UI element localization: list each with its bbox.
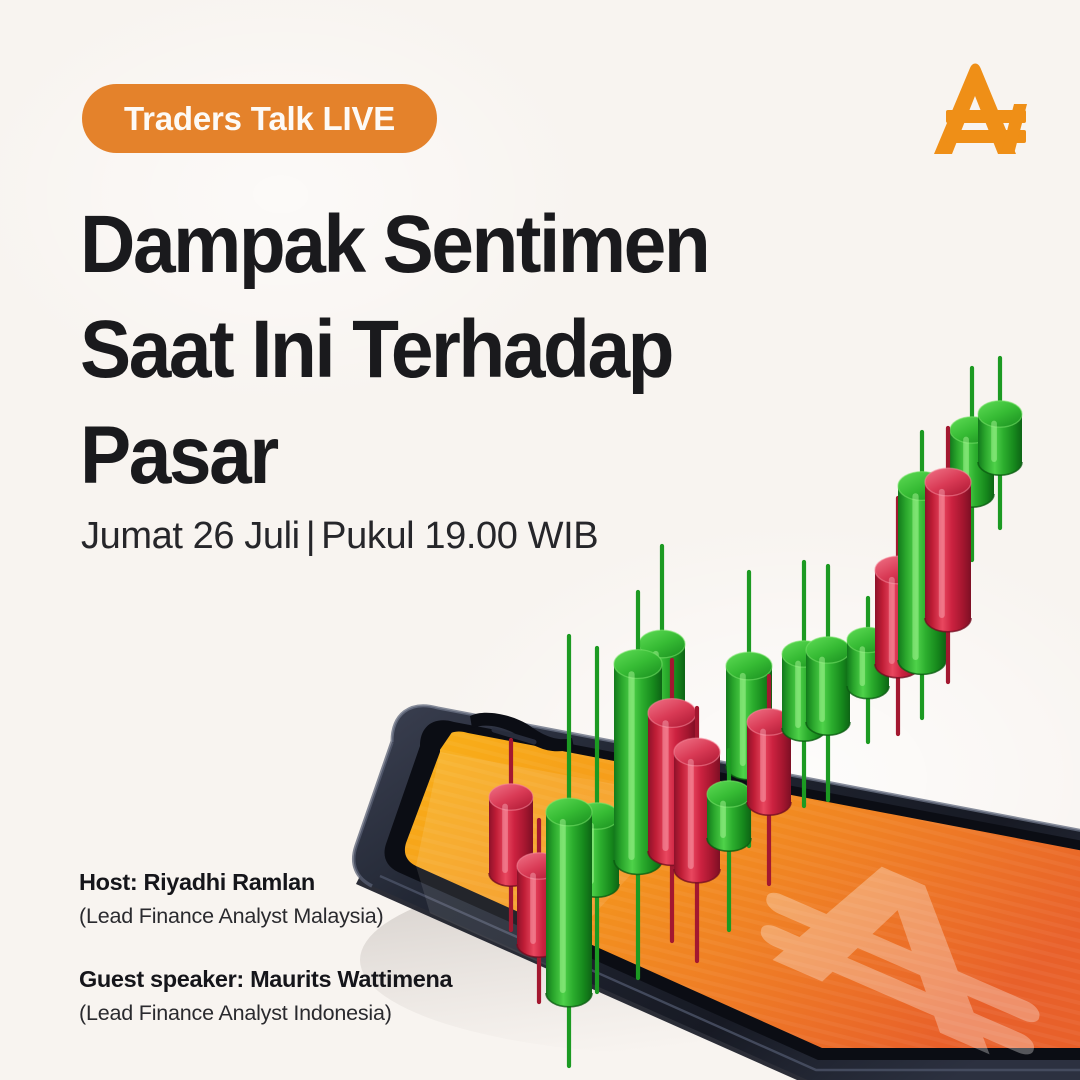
candle-13-bull — [806, 566, 850, 800]
credit-guest: Guest speaker: Maurits Wattimena (Lead F… — [79, 965, 599, 1028]
event-date: Jumat 26 Juli — [81, 515, 300, 557]
live-badge-label: Traders Talk LIVE — [124, 100, 395, 138]
candle-9-bull — [707, 750, 751, 930]
candle-14-bull — [847, 598, 889, 742]
headline-line-1: Dampak Sentimen — [80, 192, 791, 297]
guest-name: Guest speaker: Maurits Wattimena — [79, 965, 599, 993]
candle-18-bull — [950, 368, 994, 560]
candle-15-bear — [875, 498, 921, 734]
candle-8-bear — [674, 708, 720, 961]
candle-10-bull — [726, 572, 772, 846]
headline-line-3: Pasar — [80, 403, 791, 508]
candle-5-bull — [614, 592, 662, 978]
candle-6-bull — [639, 546, 685, 800]
candle-19-bull — [978, 358, 1022, 528]
candle-12-bull — [782, 562, 826, 806]
credit-host: Host: Riyadhi Ramlan (Lead Finance Analy… — [79, 868, 599, 931]
guest-role: (Lead Finance Analyst Indonesia) — [79, 999, 599, 1027]
event-time: Pukul 19.00 WIB — [321, 515, 598, 557]
live-badge: Traders Talk LIVE — [82, 84, 437, 153]
candle-11-bear — [747, 676, 791, 884]
host-role: (Lead Finance Analyst Malaysia) — [79, 902, 599, 930]
speaker-credits: Host: Riyadhi Ramlan (Lead Finance Analy… — [79, 868, 599, 1027]
headline-line-2: Saat Ini Terhadap — [80, 297, 791, 402]
host-name: Host: Riyadhi Ramlan — [79, 868, 599, 896]
page-title: Dampak Sentimen Saat Ini Terhadap Pasar — [80, 192, 791, 508]
candle-16-bull — [898, 432, 946, 718]
candle-7-bear — [648, 660, 696, 941]
datetime-separator: | — [300, 515, 321, 557]
phone-notch — [470, 713, 574, 752]
event-datetime: Jumat 26 Juli|Pukul 19.00 WIB — [81, 515, 598, 558]
ascendex-a-logo — [928, 58, 1036, 160]
screen-watermark-logo — [757, 822, 1052, 1072]
candle-17-bear — [925, 428, 971, 682]
poster-canvas: Traders Talk LIVE Dampak Sentimen Saat I… — [0, 0, 1080, 1080]
